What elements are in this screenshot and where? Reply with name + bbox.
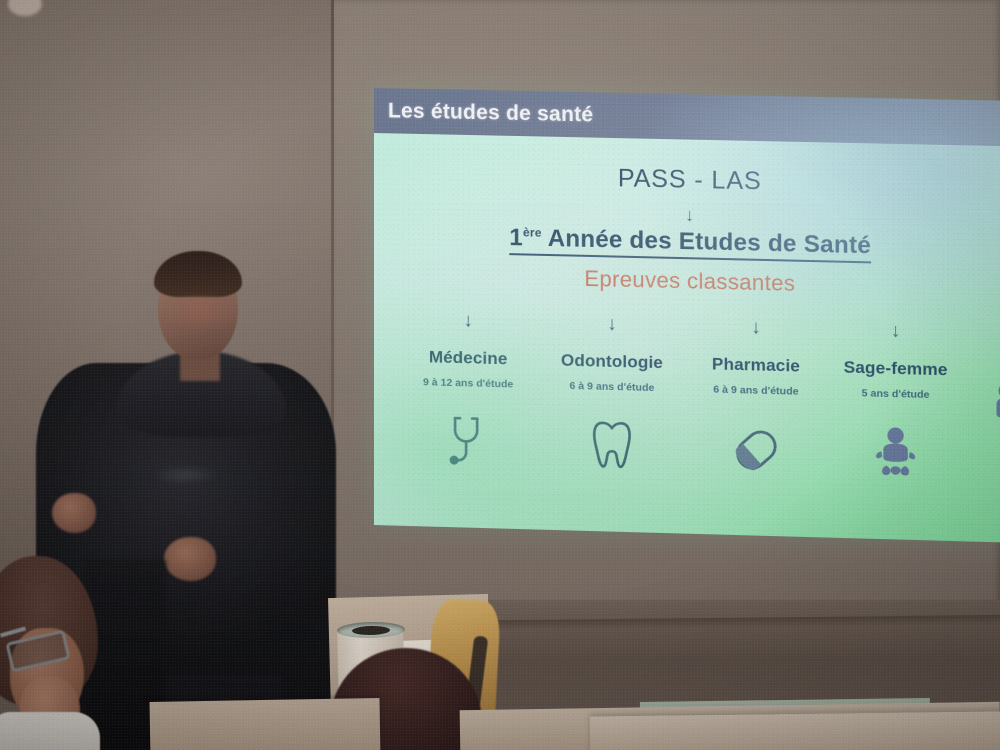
presenter-left-hand (52, 493, 96, 533)
column-arrow-icon: ↓ (688, 317, 825, 339)
tooth-icon (536, 413, 687, 479)
column-duration: 5 ans d'étude (824, 386, 967, 402)
column-arrow-icon: ↓ (824, 320, 967, 343)
baby-icon (824, 421, 967, 487)
presenter-hair (154, 251, 242, 297)
column-duration: 6 à 9 ans d'étude (536, 379, 687, 395)
slide-surface: Les études de santé PASS - LAS ↓ 1ère An… (374, 88, 1000, 543)
career-column-partial: 5 a (967, 323, 1000, 489)
column-duration: 9 à 12 ans d'étude (400, 376, 536, 391)
first-year-rest: Année des Etudes de Santé (542, 225, 871, 260)
column-arrow-icon: ↓ (536, 313, 687, 336)
presenter-right-hand (164, 537, 216, 581)
audience-left-shirt (0, 712, 100, 750)
epreuves-classantes-subtitle: Epreuves classantes (374, 261, 1000, 302)
presenter-face-shadow (162, 295, 234, 331)
career-columns: ↓ Médecine 9 à 12 ans d'étude (374, 309, 1000, 488)
first-year-ordinal-suffix: ère (523, 225, 542, 239)
career-column-pharmacie: ↓ Pharmacie 6 à 9 ans d'étude (688, 317, 825, 484)
projected-slide: Les études de santé PASS - LAS ↓ 1ère An… (374, 88, 1000, 543)
stethoscope-icon (400, 410, 536, 476)
pass-las-heading: PASS - LAS (374, 159, 1000, 202)
column-title: Médecine (400, 347, 536, 370)
column-arrow-icon (967, 323, 1000, 325)
column-duration: 5 a (967, 341, 1000, 355)
slide-body: PASS - LAS ↓ 1ère Année des Etudes de Sa… (374, 133, 1000, 543)
career-column-odontologie: ↓ Odontologie 6 à 9 ans d'étude (536, 313, 687, 480)
person-icon (967, 376, 1000, 441)
presenter-arm-highlight (150, 465, 220, 485)
classroom-photo-scene: Les études de santé PASS - LAS ↓ 1ère An… (0, 0, 1000, 750)
first-year-number: 1 (509, 224, 523, 251)
desk-left (149, 698, 380, 750)
column-title: Sage-femme (824, 357, 967, 381)
desk-front-lower (590, 711, 1000, 750)
column-title: Pharmacie (688, 354, 825, 378)
column-arrow-icon: ↓ (400, 310, 536, 332)
pill-capsule-icon (688, 417, 825, 483)
career-column-medecine: ↓ Médecine 9 à 12 ans d'étude (400, 310, 536, 476)
slide-title: Les études de santé (388, 99, 593, 127)
column-duration: 6 à 9 ans d'étude (688, 383, 825, 399)
column-title: Odontologie (536, 350, 687, 374)
career-column-sage-femme: ↓ Sage-femme 5 ans d'étude (824, 320, 967, 487)
